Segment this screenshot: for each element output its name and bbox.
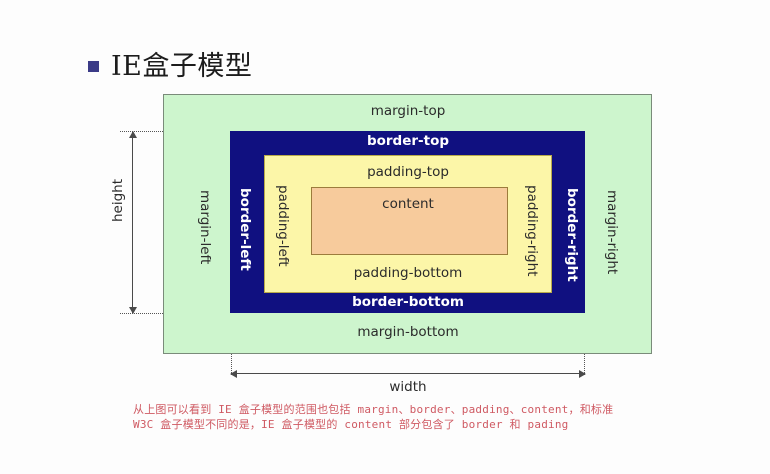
label-height: height <box>110 179 126 222</box>
arrow-head-left-icon <box>230 370 237 378</box>
width-measure-arrow <box>231 373 585 374</box>
label-margin-bottom: margin-bottom <box>357 326 458 340</box>
caption-line-1: 从上图可以看到 IE 盒子模型的范围也包括 margin、border、padd… <box>133 402 653 417</box>
label-margin-right: margin-right <box>605 190 619 274</box>
label-border-bottom: border-bottom <box>352 296 464 310</box>
arrow-head-down-icon <box>129 307 137 314</box>
label-margin-left: margin-left <box>198 190 212 264</box>
label-border-left: border-left <box>238 188 252 271</box>
label-width: width <box>389 379 426 395</box>
label-padding-bottom: padding-bottom <box>354 267 463 281</box>
label-border-top: border-top <box>367 135 449 149</box>
label-padding-left: padding-left <box>276 185 290 267</box>
label-border-right: border-right <box>565 188 579 282</box>
caption-line-2: W3C 盒子模型不同的是，IE 盒子模型的 content 部分包含了 bord… <box>133 417 653 432</box>
caption-block: 从上图可以看到 IE 盒子模型的范围也包括 margin、border、padd… <box>133 402 653 432</box>
arrow-head-right-icon <box>579 370 586 378</box>
label-margin-top: margin-top <box>371 105 446 119</box>
label-content: content <box>382 198 434 212</box>
label-padding-top: padding-top <box>367 166 449 180</box>
height-measure-arrow <box>132 132 133 313</box>
arrow-head-up-icon <box>129 131 137 138</box>
label-padding-right: padding-right <box>525 185 539 276</box>
